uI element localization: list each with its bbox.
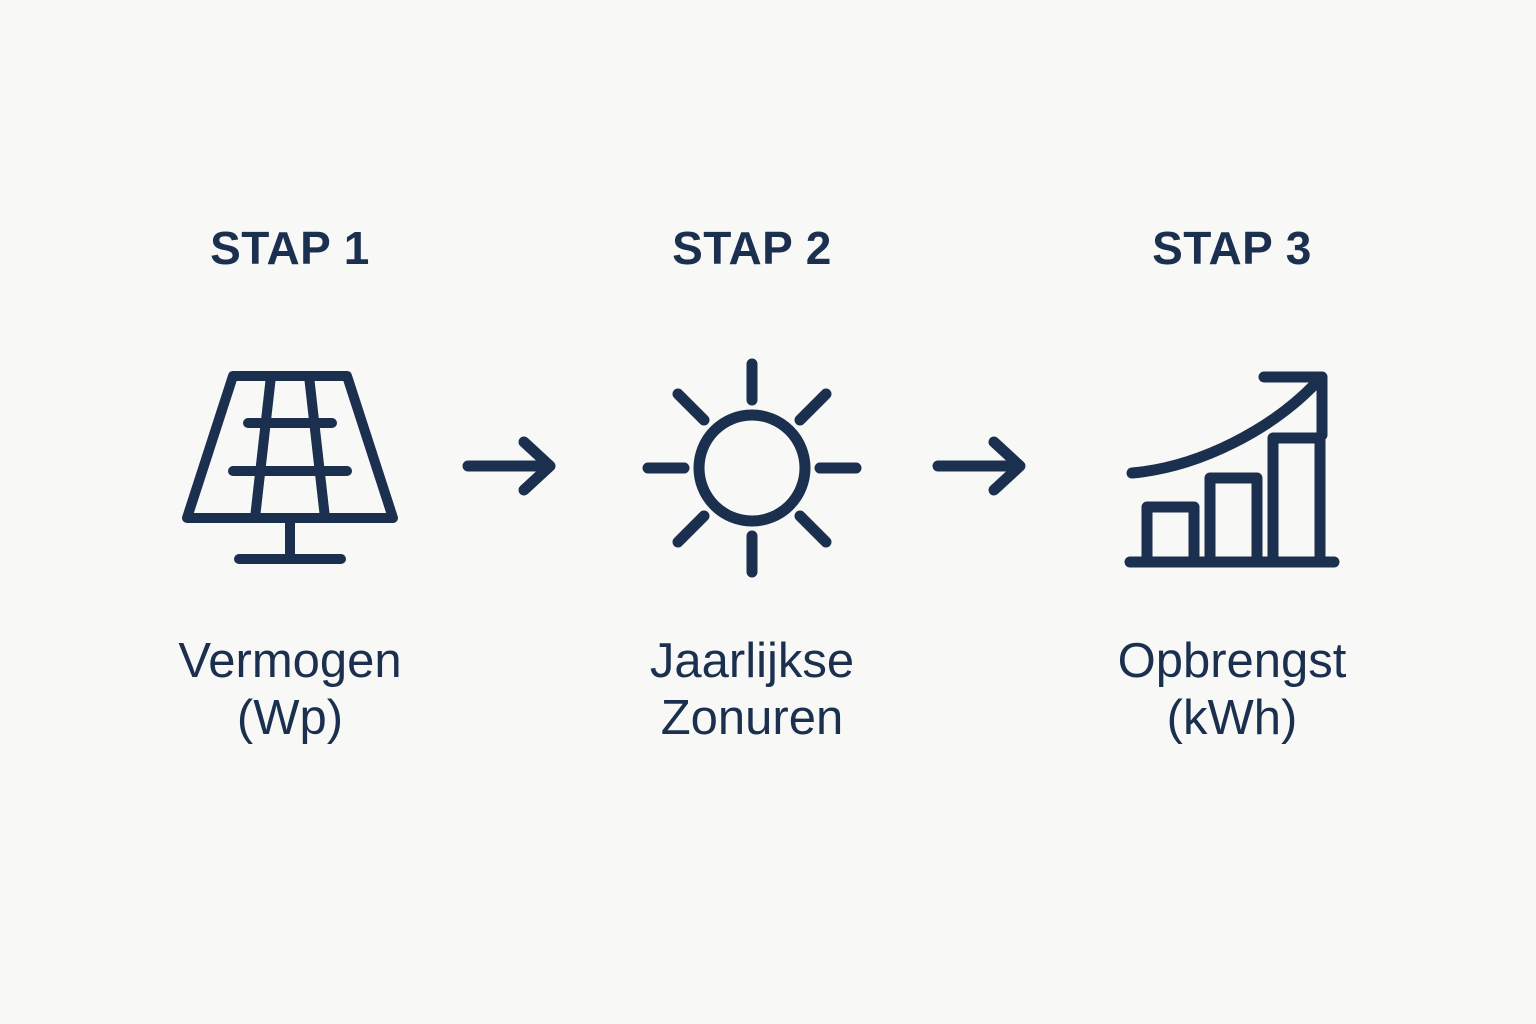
arrow-right-icon-2 <box>932 432 1032 500</box>
step-3: STAP 3 Opbrengst (kWh) <box>1062 225 1402 748</box>
step-1: STAP 1 Vermogen (Wp) <box>120 225 460 748</box>
arrow-right-icon-1 <box>462 432 562 500</box>
solar-panel-icon <box>165 353 415 583</box>
step-2-title: STAP 2 <box>672 225 832 271</box>
step-2-label: Jaarlijkse Zonuren <box>650 633 854 748</box>
infographic-canvas: STAP 1 Vermogen (Wp) <box>0 0 1536 1024</box>
step-2: STAP 2 Jaarlijkse Zonuren <box>582 225 922 748</box>
growth-bar-chart-icon <box>1122 353 1342 583</box>
step-3-label: Opbrengst (kWh) <box>1118 633 1347 748</box>
step-1-label: Vermogen (Wp) <box>178 633 401 748</box>
step-1-title: STAP 1 <box>210 225 370 271</box>
step-3-title: STAP 3 <box>1152 225 1312 271</box>
sun-icon <box>640 353 864 583</box>
